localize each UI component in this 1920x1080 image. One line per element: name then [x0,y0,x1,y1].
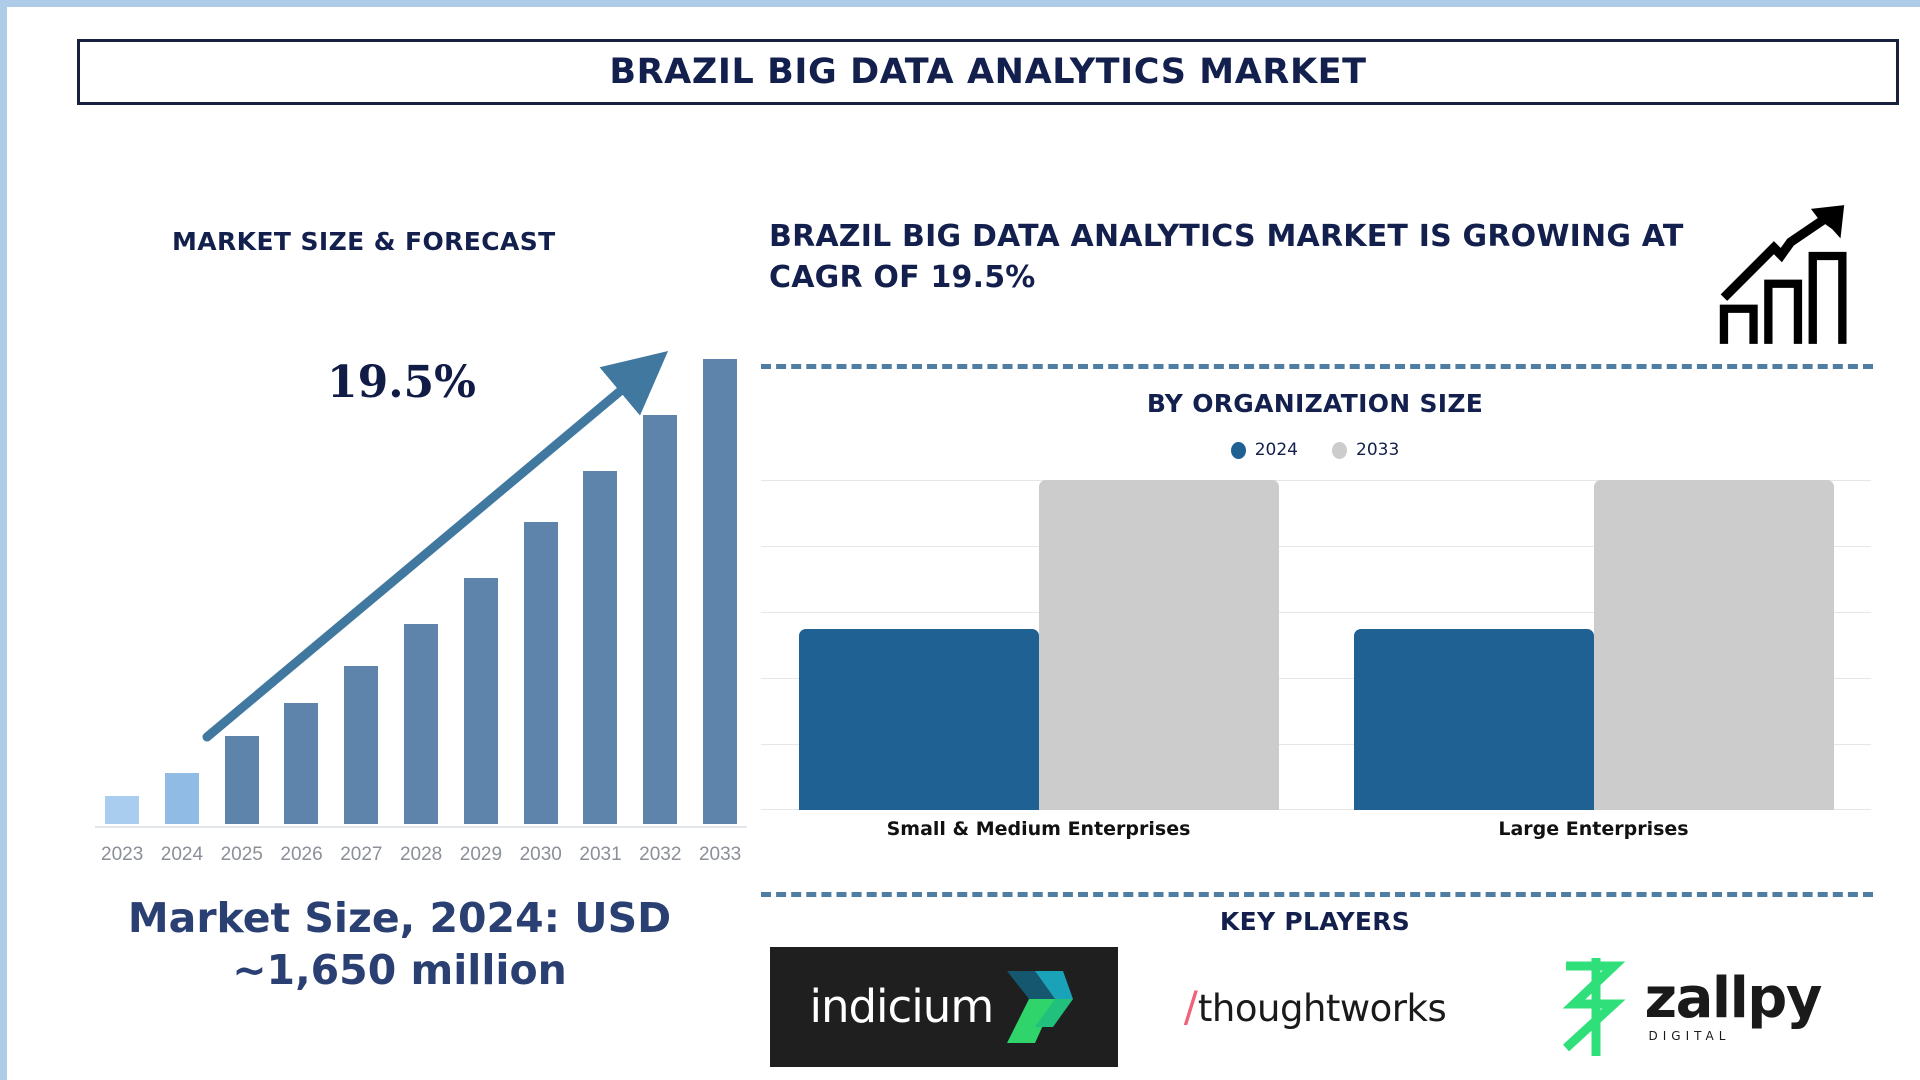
x-tick-label: 2027 [340,844,382,866]
thoughtworks-logo-text: thoughtworks [1198,987,1446,1030]
bar-col [400,359,442,824]
bar-col [161,359,203,824]
divider-bottom [761,892,1873,897]
key-player-zallpy[interactable]: zallpy DIGITAL [1500,944,1871,1069]
indicium-logo-text: indicium [809,980,993,1033]
zallpy-logo-subtext: DIGITAL [1648,1029,1730,1043]
right-panel: BRAZIL BIG DATA ANALYTICS MARKET IS GROW… [759,192,1879,1072]
market-size-value-caption: Market Size, 2024: USD ~1,650 million [47,892,752,997]
org-bar-2033 [1594,480,1834,810]
org-category-label-large: Large Enterprises [1316,817,1871,842]
bar-col [101,359,143,824]
thoughtworks-logo: / thoughtworks [1184,982,1446,1031]
bar-col [639,359,681,824]
bar-col [460,359,502,824]
zallpy-text-block: zallpy DIGITAL [1644,971,1820,1043]
key-player-indicium[interactable]: indicium [759,944,1130,1069]
bar-col [520,359,562,824]
market-growth-headline: BRAZIL BIG DATA ANALYTICS MARKET IS GROW… [769,217,1699,298]
market-size-panel: MARKET SIZE & FORECAST 19.5% [47,192,752,1062]
page-title: BRAZIL BIG DATA ANALYTICS MARKET [609,52,1366,92]
x-tick-label: 2033 [699,844,741,866]
section-title-organization-size: BY ORGANIZATION SIZE [759,389,1871,418]
key-player-thoughtworks[interactable]: / thoughtworks [1130,944,1501,1069]
x-tick-label: 2026 [280,844,322,866]
legend-item-2033[interactable]: 2033 [1332,440,1399,460]
indicium-logo: indicium [770,947,1118,1067]
org-group-sme [761,480,1316,810]
x-tick-label: 2025 [221,844,263,866]
market-size-x-axis-labels: 2023 2024 2025 2026 2027 2028 2029 2030 … [101,844,741,866]
infographic-root: BRAZIL BIG DATA ANALYTICS MARKET MARKET … [0,0,1920,1080]
org-bar-2024 [1354,629,1594,811]
x-tick-label: 2029 [460,844,502,866]
bar-col [699,359,741,824]
legend-dot-icon [1231,442,1246,459]
x-tick-label: 2028 [400,844,442,866]
org-bar-2033 [1039,480,1279,810]
x-tick-label: 2030 [520,844,562,866]
x-axis-line [95,826,747,828]
legend-label: 2024 [1255,440,1298,460]
zallpy-logo: zallpy DIGITAL [1550,952,1820,1062]
x-tick-label: 2032 [639,844,681,866]
bar-col [340,359,382,824]
market-size-bars [101,359,741,824]
bar-col [221,359,263,824]
bar-col [280,359,322,824]
zallpy-logo-text: zallpy [1644,971,1820,1027]
x-tick-label: 2023 [101,844,143,866]
legend-dot-icon [1332,442,1347,459]
org-chart-category-labels: Small & Medium Enterprises Large Enterpr… [761,817,1871,842]
org-bar-2024 [799,629,1039,811]
x-tick-label: 2031 [579,844,621,866]
zallpy-z-mark-icon [1550,952,1630,1062]
page-title-box: BRAZIL BIG DATA ANALYTICS MARKET [77,39,1899,105]
org-group-large [1316,480,1871,810]
legend-label: 2033 [1356,440,1399,460]
organization-size-bar-chart [761,480,1871,810]
org-bar-groups [761,480,1871,810]
org-chart-legend: 2024 2033 [759,440,1871,460]
market-size-bar-chart: 2023 2024 2025 2026 2027 2028 2029 2030 … [65,352,755,882]
key-players-logos: indicium / thoughtworks [759,944,1871,1069]
section-title-key-players: KEY PLAYERS [759,907,1871,936]
indicium-arrow-icon [1001,965,1079,1049]
thoughtworks-slash-icon: / [1184,982,1198,1031]
x-tick-label: 2024 [161,844,203,866]
divider-top [761,364,1873,369]
org-category-label-sme: Small & Medium Enterprises [761,817,1316,842]
growth-bar-chart-arrow-icon [1711,192,1859,357]
bar-col [579,359,621,824]
legend-item-2024[interactable]: 2024 [1231,440,1298,460]
market-size-heading: MARKET SIZE & FORECAST [172,227,556,256]
